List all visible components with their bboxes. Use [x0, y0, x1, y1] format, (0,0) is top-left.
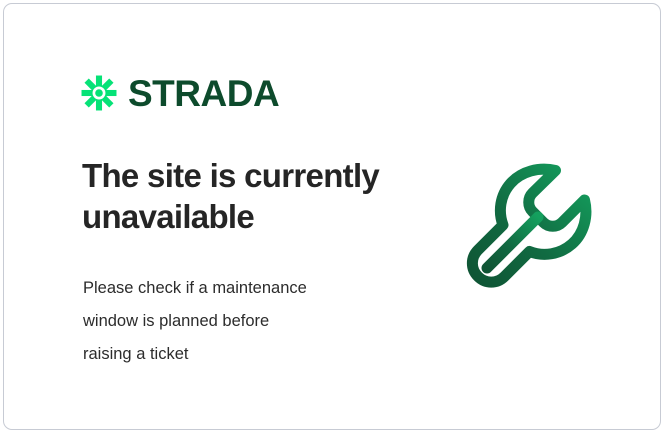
body-copy-line: Please check if a maintenance — [83, 272, 393, 305]
body-copy-line: window is planned before — [83, 305, 393, 338]
wrench-icon — [459, 156, 619, 316]
status-card: STRADA The site is currently unavailable… — [3, 3, 661, 430]
asterisk-starburst-icon — [80, 74, 118, 112]
brand-lockup: STRADA — [80, 74, 279, 112]
body-copy-line: raising a ticket — [83, 338, 393, 371]
body-copy: Please check if a maintenance window is … — [83, 272, 393, 371]
brand-wordmark: STRADA — [128, 75, 279, 112]
page-title: The site is currently unavailable — [82, 156, 412, 237]
